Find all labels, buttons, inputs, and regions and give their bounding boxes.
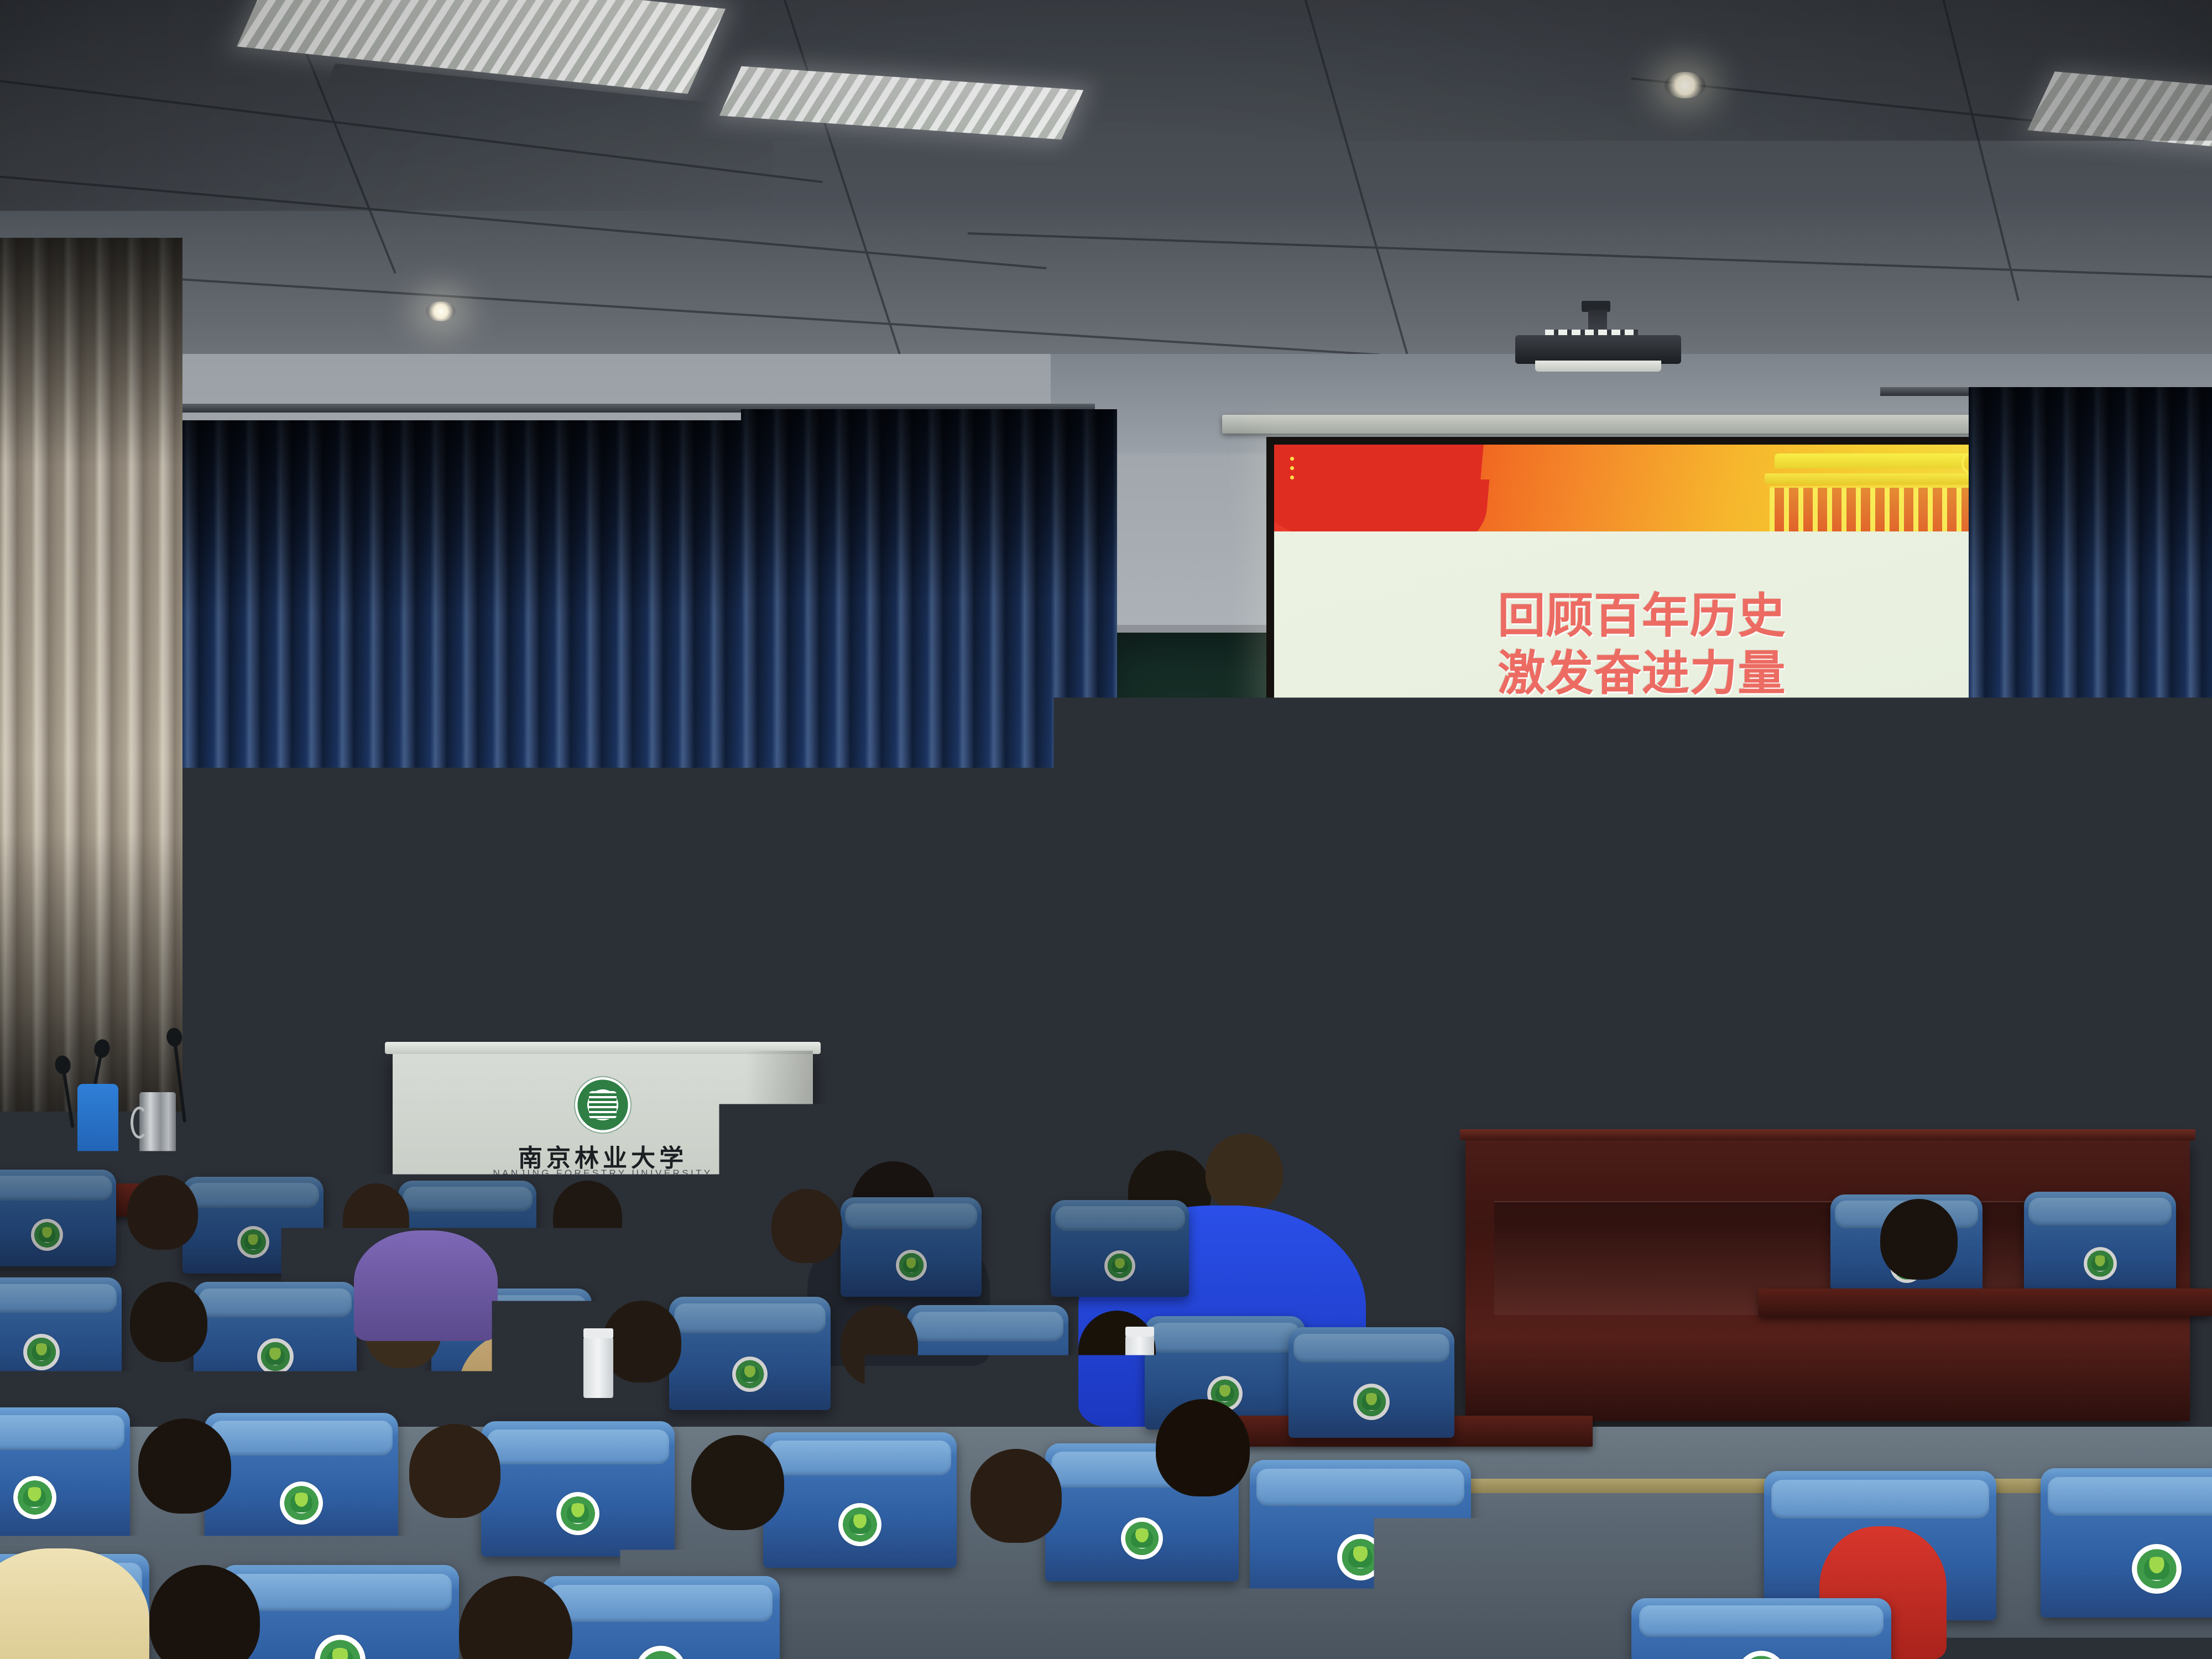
auditorium-seat[interactable] [2041, 1468, 2212, 1618]
auditorium-seat[interactable] [907, 1305, 1068, 1418]
auditorium-seat[interactable] [0, 1277, 122, 1388]
screen-roller-housing [1222, 415, 2024, 434]
auditorium-seat[interactable] [1288, 1327, 1454, 1438]
auditorium-seat[interactable] [1250, 1460, 1471, 1604]
auditorium-seat[interactable] [841, 1197, 982, 1297]
auditorium-seat[interactable] [481, 1421, 675, 1557]
chinese-flag-icon [1274, 445, 1485, 531]
slide-title-line-1: 回顾百年历史 [1274, 587, 2010, 645]
auditorium-seat[interactable] [763, 1432, 957, 1568]
slide-title-line-2: 激发奋进力量 [1274, 645, 2010, 703]
auditorium-seat[interactable] [542, 1576, 780, 1659]
attendee-head [130, 1282, 207, 1362]
auditorium-seat[interactable] [182, 1177, 324, 1274]
presenter-hair [689, 825, 760, 860]
auditorium-seat[interactable] [205, 1413, 398, 1546]
head-table-microphone[interactable] [1804, 1018, 1807, 1139]
head-table-top [1460, 1129, 2195, 1140]
blue-thermos-icon [77, 1084, 118, 1167]
downlight-1 [426, 301, 456, 321]
auditorium-seat[interactable] [2024, 1192, 2176, 1297]
attendee-head [1875, 1322, 1963, 1413]
attendee-purple-jacket [354, 1230, 498, 1341]
chalk-writing: 学习 [1147, 852, 1194, 887]
water-bottle-icon [1125, 1335, 1154, 1391]
attendee-head [1924, 1222, 2002, 1302]
projector-body [1515, 335, 1681, 364]
auditorium-seat[interactable] [0, 1407, 130, 1540]
auditorium-seat[interactable] [2035, 1313, 2212, 1438]
attendee-head [691, 1435, 784, 1530]
auditorium-desk [1736, 1438, 2212, 1469]
slide-title: 回顾百年历史 激发奋进力量 [1274, 587, 2010, 703]
microphone-head-icon [478, 925, 497, 939]
attendee-head [971, 1449, 1062, 1543]
auditorium-seat[interactable] [669, 1297, 831, 1410]
microphone-head-icon [1750, 1008, 1762, 1018]
auditorium-seat[interactable] [1051, 1200, 1189, 1297]
projector-lens-plate [1535, 361, 1661, 372]
ceiling-projector [1515, 310, 1681, 376]
slide-presenter: 主讲人: 赵 林 [1274, 844, 2010, 884]
auditorium-seat[interactable] [1631, 1598, 1891, 1659]
slide-footer-band [1274, 953, 2010, 1003]
attendee-head [841, 1305, 918, 1386]
lecture-hall-photo: 学习 回顾百年历史 激发奋进力量 学习党的十九 [0, 0, 2212, 1659]
attendee-head [603, 1301, 681, 1383]
auditorium-seat[interactable] [194, 1282, 357, 1392]
auditorium-seat[interactable] [863, 1587, 1100, 1659]
slide-banner [1274, 445, 2010, 531]
auditorium-seat[interactable] [0, 1170, 116, 1266]
attendee-head [1206, 1134, 1283, 1211]
attendee-head [138, 1418, 231, 1514]
presentation-slide: 回顾百年历史 激发奋进力量 学习党的十九届六中精神 主讲人: 赵 林 [1274, 445, 2010, 1003]
eyeglasses-icon [691, 862, 758, 876]
attendee-head [127, 1175, 198, 1250]
stainless-steel-mug-icon [139, 1092, 176, 1162]
water-bottle-icon [583, 1337, 613, 1398]
slide-subtitle: 学习党的十九届六中精神 [1274, 766, 2010, 810]
auditorium-seat[interactable] [614, 1186, 755, 1283]
stage-curtain-right [1969, 387, 2212, 1172]
attendee-head [771, 1189, 842, 1263]
party-emblem-pin-icon [741, 978, 755, 992]
attendee-head [553, 1181, 622, 1254]
attendee-head [409, 1424, 500, 1518]
lectern-university-name-en: NANJING FORESTRY UNIVERSITY [493, 1168, 712, 1179]
side-curtain-beige [0, 238, 182, 1112]
attendee-head [1156, 1399, 1250, 1496]
nfu-crest-icon [574, 1076, 632, 1134]
downlight-2 [1665, 72, 1705, 98]
flag-stars-icon [1290, 457, 1294, 485]
projection-screen: 回顾百年历史 激发奋进力量 学习党的十九届六中精神 主讲人: 赵 林 [1266, 437, 2017, 1011]
